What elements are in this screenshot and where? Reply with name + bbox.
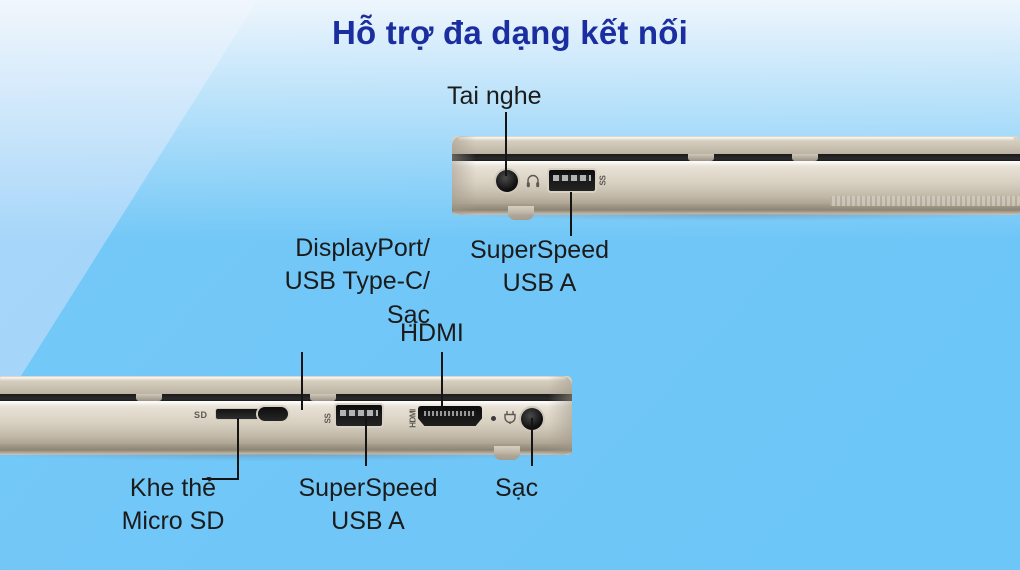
power-plug-icon xyxy=(503,409,517,425)
leader-line-usb-c xyxy=(301,352,303,410)
label-khe-the-micro-sd: Khe thẻ Micro SD xyxy=(80,472,266,539)
label-superspeed-usb-a-top: SuperSpeed USB A xyxy=(470,234,609,301)
leader-line-tai-nghe xyxy=(505,112,507,176)
laptop-base xyxy=(0,401,572,446)
usb-a-tongue xyxy=(340,410,378,416)
base-left-edge xyxy=(452,136,476,215)
hdmi-pins xyxy=(424,411,476,416)
headphone-icon xyxy=(526,174,540,188)
base-right-edge xyxy=(548,376,572,455)
laptop-top-right-side: SS xyxy=(452,136,1020,218)
leader-line-sd-vertical xyxy=(237,418,239,480)
hinge-right xyxy=(310,394,336,401)
page-title: Hỗ trợ đa dạng kết nối xyxy=(0,14,1020,52)
hinge-left xyxy=(136,394,162,401)
hdmi-marking: HDMI xyxy=(409,409,418,427)
usb-a-port xyxy=(549,170,595,191)
label-hdmi: HDMI xyxy=(400,317,464,350)
laptop-bottom-left-side: SD SS SS HDMI xyxy=(0,376,572,462)
product-connectivity-infographic: Hỗ trợ đa dạng kết nối SS xyxy=(0,0,1020,570)
headphone-jack-port xyxy=(496,170,518,192)
label-tai-nghe: Tai nghe xyxy=(447,80,542,113)
lid-highlight xyxy=(0,377,566,381)
base-highlight xyxy=(0,401,572,406)
label-displayport-usbc-sac: DisplayPort/ USB Type-C/ Sạc xyxy=(196,232,430,332)
hinge-left xyxy=(688,154,714,161)
leader-line-superspeed-bottom xyxy=(365,418,367,466)
usb-c-port xyxy=(258,407,288,421)
label-sac: Sạc xyxy=(495,472,538,505)
laptop-shadow xyxy=(452,214,1020,221)
power-led-indicator xyxy=(491,416,496,421)
usb-a-tongue xyxy=(553,175,591,181)
base-highlight xyxy=(452,161,1020,166)
laptop-lid xyxy=(452,136,1020,155)
usba-ss-marking: SS xyxy=(324,413,333,423)
leader-line-hdmi xyxy=(441,352,443,409)
usb-ss-marking-top: SS xyxy=(599,175,608,185)
leader-line-superspeed-top xyxy=(570,192,572,236)
usb-a-port xyxy=(336,405,382,426)
leader-line-power xyxy=(531,418,533,466)
vent-grille xyxy=(830,196,1020,206)
label-superspeed-usb-a-bottom: SuperSpeed USB A xyxy=(277,472,459,539)
laptop-shadow xyxy=(0,454,572,461)
sd-marking: SD xyxy=(194,410,208,420)
lid-highlight xyxy=(458,137,1014,141)
hdmi-port xyxy=(418,406,482,426)
laptop-lid xyxy=(0,376,572,395)
hinge-right xyxy=(792,154,818,161)
